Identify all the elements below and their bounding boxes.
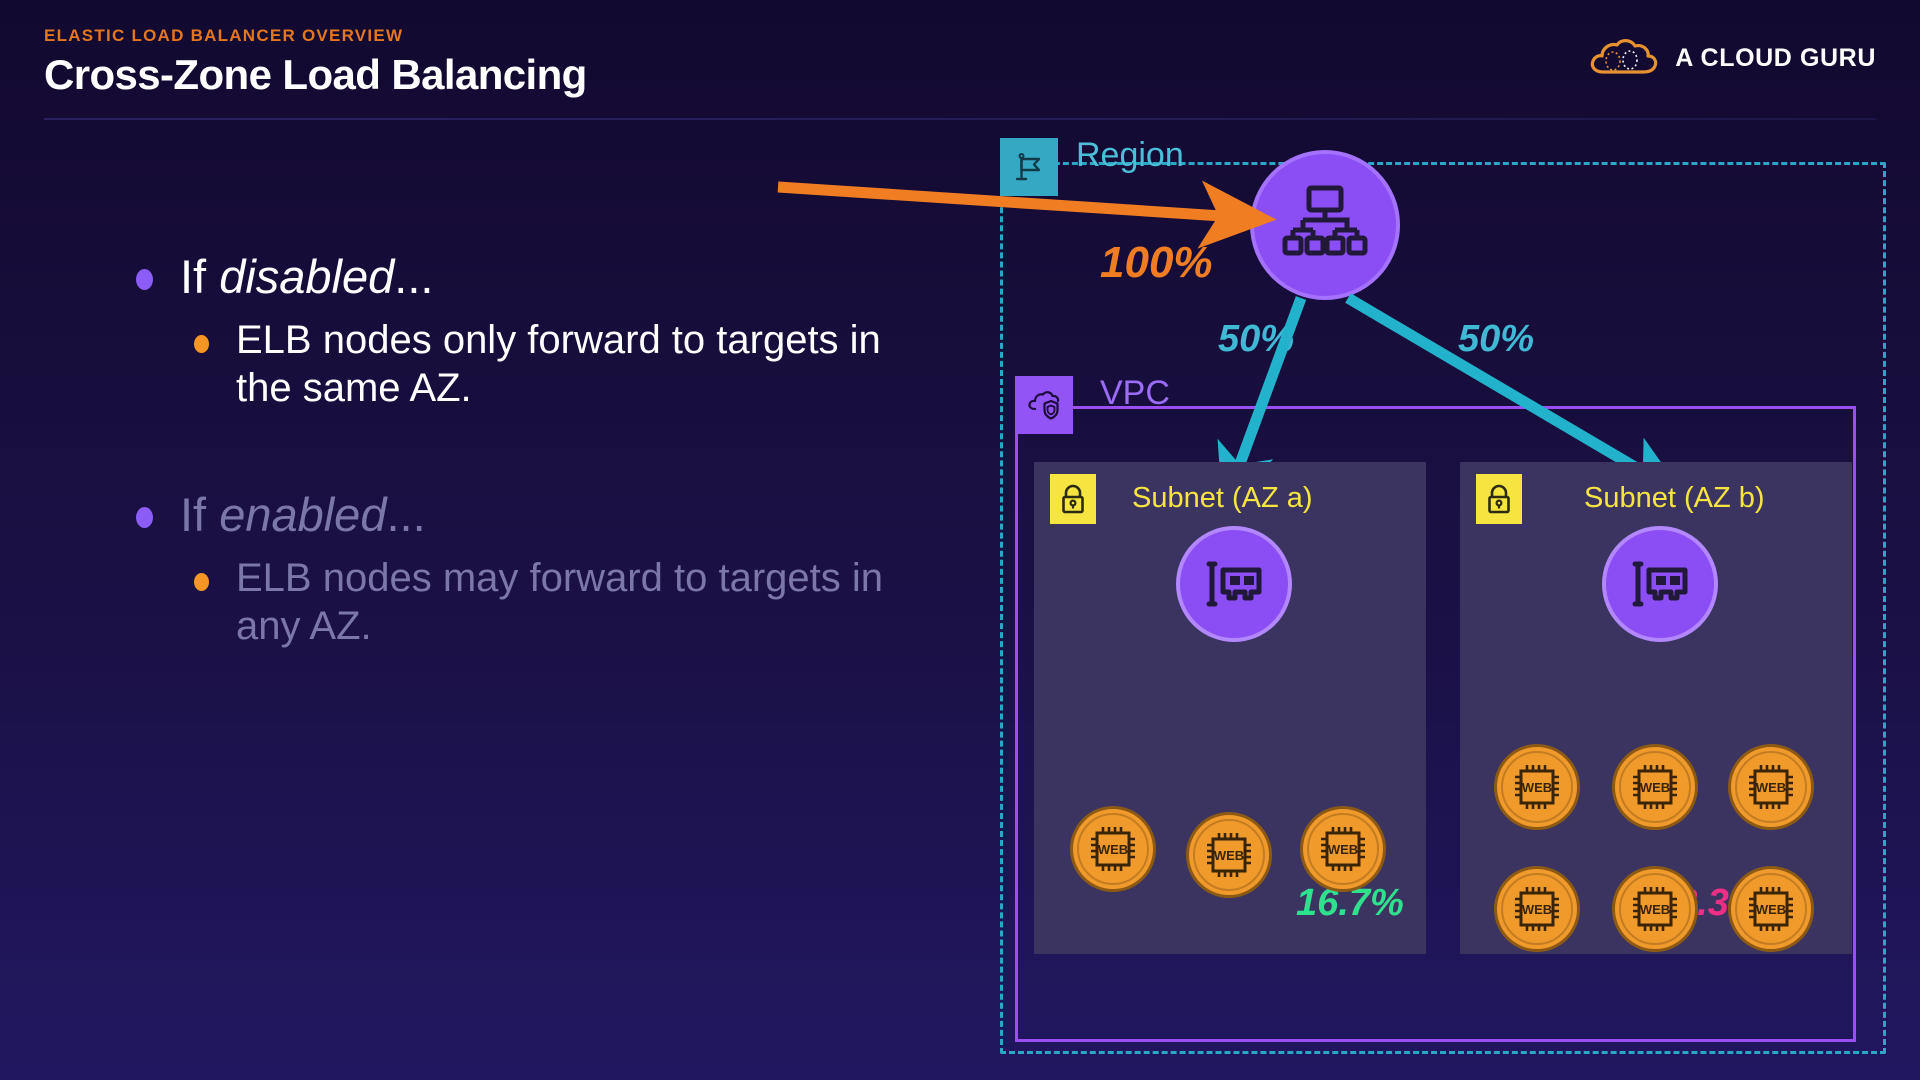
network-interface-card-icon <box>1176 526 1292 642</box>
bullet-list: If disabled... ELB nodes only forward to… <box>128 250 888 651</box>
web-label: WEB <box>1756 902 1786 917</box>
bullet-secondary-text: ELB nodes may forward to targets in any … <box>236 554 888 651</box>
bullet-lead-suffix: ... <box>394 250 433 303</box>
bullet-lead-suffix: ... <box>386 488 425 541</box>
subnet-az-b: Subnet (AZ b) 8.3% <box>1460 462 1852 954</box>
bullet-secondary-enabled: ELB nodes may forward to targets in any … <box>128 554 888 651</box>
bullet-dot-purple-icon <box>136 507 153 528</box>
bullet-dot-orange-icon <box>194 335 209 353</box>
cpu-chip-icon: WEB <box>1728 866 1814 952</box>
bullet-group-enabled: If enabled... ELB nodes may forward to t… <box>128 488 888 650</box>
cpu-chip-icon: WEB <box>1612 866 1698 952</box>
cpu-chip-icon: WEB <box>1728 744 1814 830</box>
slide-root: ELASTIC LOAD BALANCER OVERVIEW Cross-Zon… <box>0 0 1920 1080</box>
bullet-lead-emphasis: disabled <box>219 250 394 303</box>
logo-text: A CLOUD GURU <box>1675 44 1876 73</box>
bullet-primary-text: If enabled... <box>180 488 888 542</box>
az-a-split-percent-label: 50% <box>1218 318 1294 361</box>
lock-icon <box>1050 474 1096 524</box>
web-label: WEB <box>1522 902 1552 917</box>
subnet-az-b-label: Subnet (AZ b) <box>1584 482 1765 515</box>
region-label: Region <box>1076 136 1184 175</box>
bullet-dot-orange-icon <box>194 573 209 591</box>
bullet-secondary-text: ELB nodes only forward to targets in the… <box>236 316 888 413</box>
load-balancer-tree-icon <box>1250 150 1400 300</box>
web-label: WEB <box>1640 902 1670 917</box>
inbound-percent-label: 100% <box>1100 238 1213 288</box>
bullet-primary-text: If disabled... <box>180 250 888 304</box>
cpu-chip-icon: WEB <box>1070 806 1156 892</box>
subnet-az-a: Subnet (AZ a) 16.7% <box>1034 462 1426 954</box>
cpu-chip-icon: WEB <box>1186 812 1272 898</box>
bullet-secondary-disabled: ELB nodes only forward to targets in the… <box>128 316 888 413</box>
web-label: WEB <box>1522 780 1552 795</box>
architecture-diagram: Region VPC <box>990 150 1890 1050</box>
bullet-primary-enabled: If enabled... <box>128 488 888 542</box>
cloud-shield-icon <box>1015 376 1073 434</box>
bullet-group-disabled: If disabled... ELB nodes only forward to… <box>128 250 888 412</box>
web-label: WEB <box>1328 842 1358 857</box>
bullet-dot-purple-icon <box>136 269 153 290</box>
flag-icon <box>1000 138 1058 196</box>
bullet-lead-prefix: If <box>180 488 219 541</box>
bullet-primary-disabled: If disabled... <box>128 250 888 304</box>
web-label: WEB <box>1756 780 1786 795</box>
web-label: WEB <box>1214 848 1244 863</box>
cpu-chip-icon: WEB <box>1494 744 1580 830</box>
az-b-split-percent-label: 50% <box>1458 318 1534 361</box>
network-interface-card-icon <box>1602 526 1718 642</box>
brand-logo: A CLOUD GURU <box>1587 36 1876 80</box>
subnet-az-a-label: Subnet (AZ a) <box>1132 482 1313 515</box>
bullet-lead-emphasis: enabled <box>219 488 386 541</box>
web-label: WEB <box>1640 780 1670 795</box>
bullet-lead-prefix: If <box>180 250 219 303</box>
cloud-guru-logo-icon <box>1587 36 1661 80</box>
vpc-label: VPC <box>1100 374 1170 413</box>
header-divider <box>44 118 1876 120</box>
web-label: WEB <box>1098 842 1128 857</box>
lock-icon <box>1476 474 1522 524</box>
cpu-chip-icon: WEB <box>1300 806 1386 892</box>
cpu-chip-icon: WEB <box>1494 866 1580 952</box>
cpu-chip-icon: WEB <box>1612 744 1698 830</box>
